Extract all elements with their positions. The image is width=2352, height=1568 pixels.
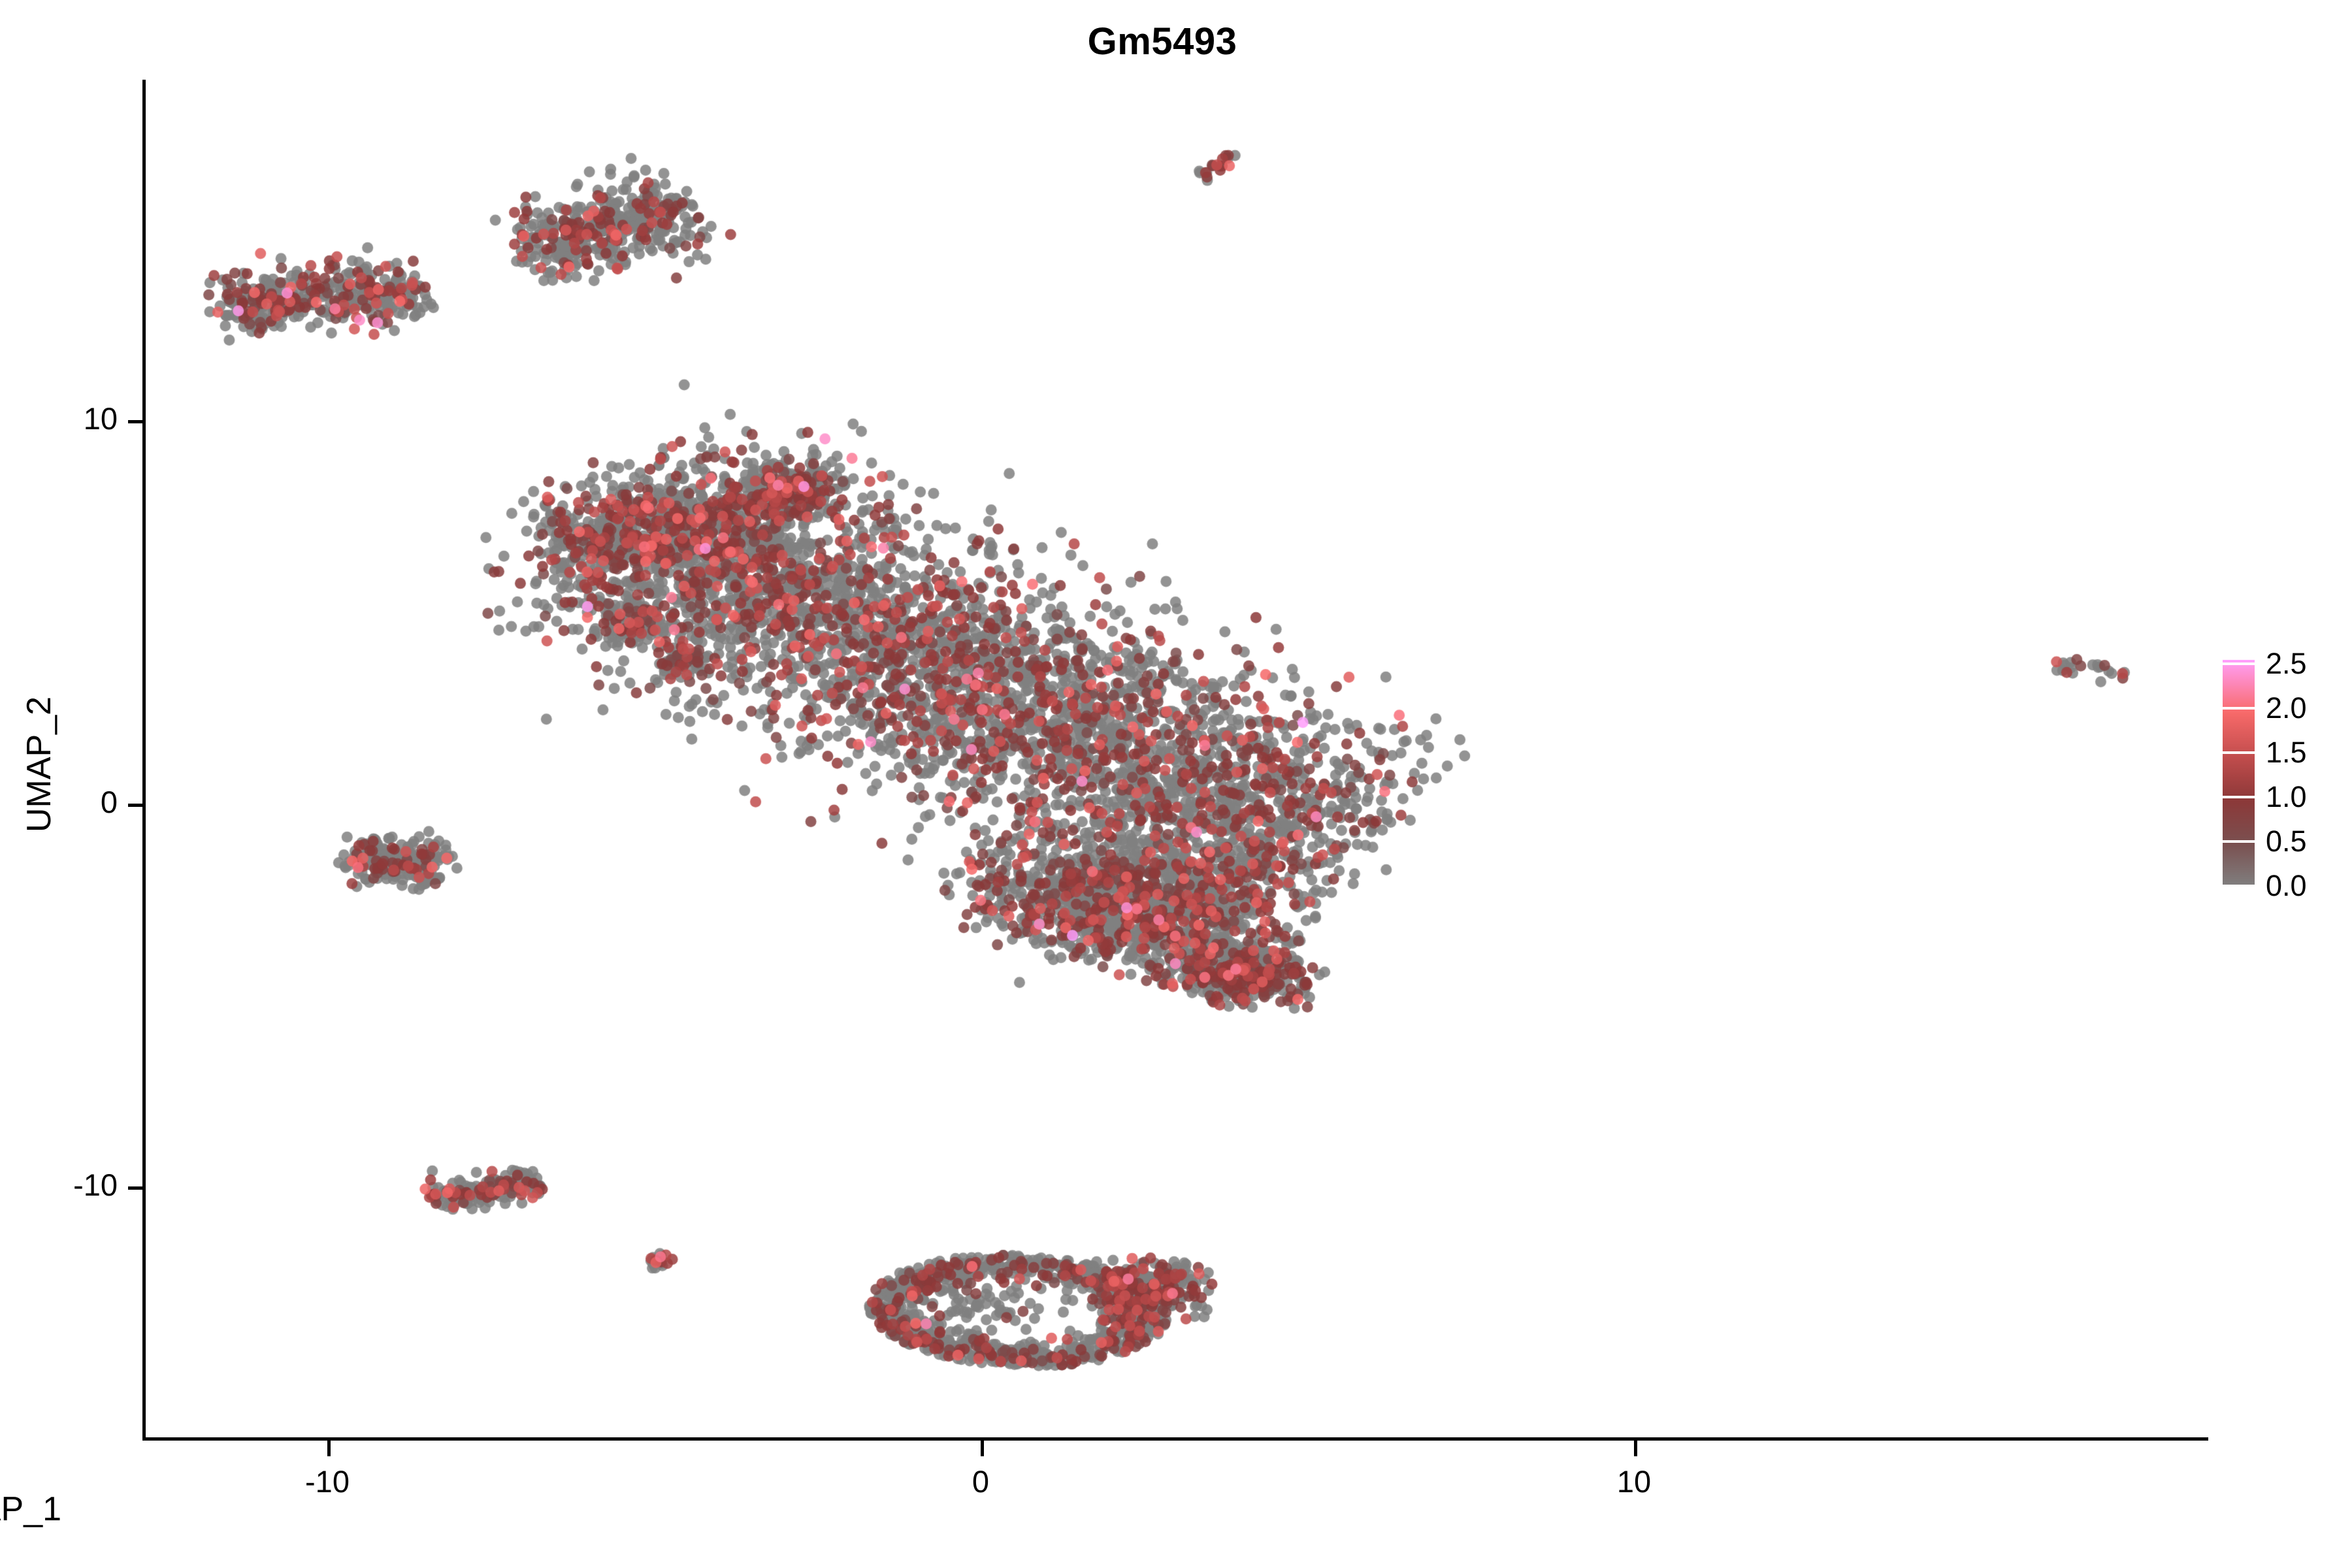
colorbar-tick-0.5 xyxy=(2223,840,2255,843)
colorbar-label-2.5: 2.5 xyxy=(2266,647,2307,681)
y-tick-10 xyxy=(128,420,144,423)
colorbar-tick-0.0 xyxy=(2223,885,2255,887)
x-axis-line xyxy=(142,1437,2208,1441)
colorbar-gradient xyxy=(2223,660,2255,887)
y-tick-label-10: 10 xyxy=(39,400,118,436)
x-axis-title-text: UMAP_1 xyxy=(0,1490,61,1529)
scatter-plot-canvas xyxy=(144,78,2208,1439)
colorbar-tick-2.0 xyxy=(2223,707,2255,710)
x-axis-title: UMAP_1 xyxy=(0,1490,2352,1529)
y-axis-line xyxy=(142,80,146,1441)
colorbar-legend: 2.5 2.0 1.5 1.0 0.5 0.0 xyxy=(2223,660,2340,889)
colorbar-tick-1.5 xyxy=(2223,751,2255,754)
colorbar-tick-2.5 xyxy=(2223,662,2255,665)
colorbar-label-2.0: 2.0 xyxy=(2266,691,2307,725)
colorbar-label-1.0: 1.0 xyxy=(2266,780,2307,814)
x-tick-neg10 xyxy=(327,1441,331,1456)
plot-title-text: Gm5493 xyxy=(1088,20,1237,63)
x-tick-0 xyxy=(981,1441,984,1456)
y-tick-neg10 xyxy=(128,1186,144,1190)
colorbar-label-1.5: 1.5 xyxy=(2266,736,2307,770)
colorbar-label-0.5: 0.5 xyxy=(2266,825,2307,858)
umap-feature-plot: Gm5493 10 0 -10 -10 0 10 UMAP_2 UMAP_1 2… xyxy=(0,0,2352,1568)
y-tick-0 xyxy=(128,804,144,807)
page-title: Gm5493 xyxy=(0,20,2352,63)
x-tick-10 xyxy=(1634,1441,1637,1456)
y-tick-label-neg10: -10 xyxy=(26,1167,118,1203)
colorbar-label-0.0: 0.0 xyxy=(2266,869,2307,903)
colorbar-tick-1.0 xyxy=(2223,796,2255,798)
y-axis-title: UMAP_2 xyxy=(20,686,59,843)
